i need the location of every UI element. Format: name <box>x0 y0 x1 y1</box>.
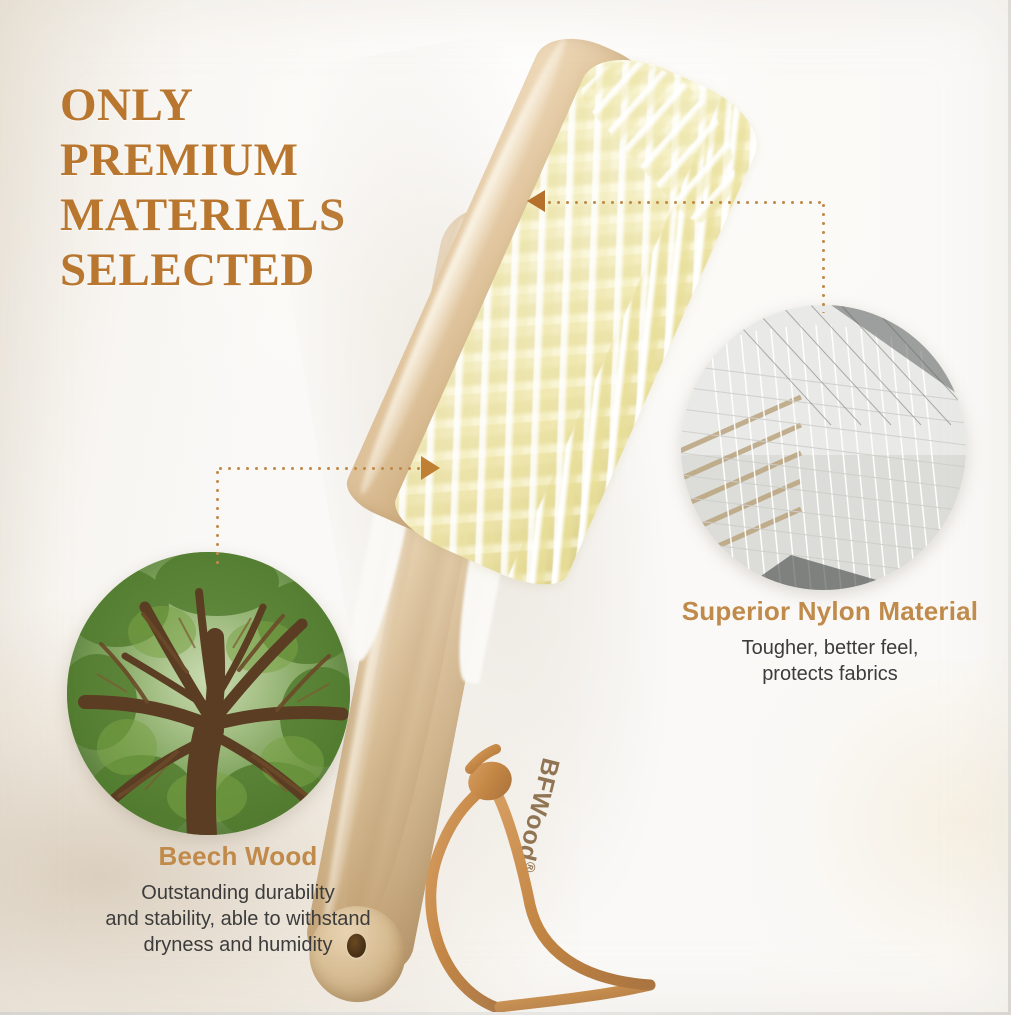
product-infographic-poster: ONLY PREMIUM MATERIALS SELECTED BFWood® <box>0 0 1011 1015</box>
poster-vignette <box>0 0 1011 1015</box>
